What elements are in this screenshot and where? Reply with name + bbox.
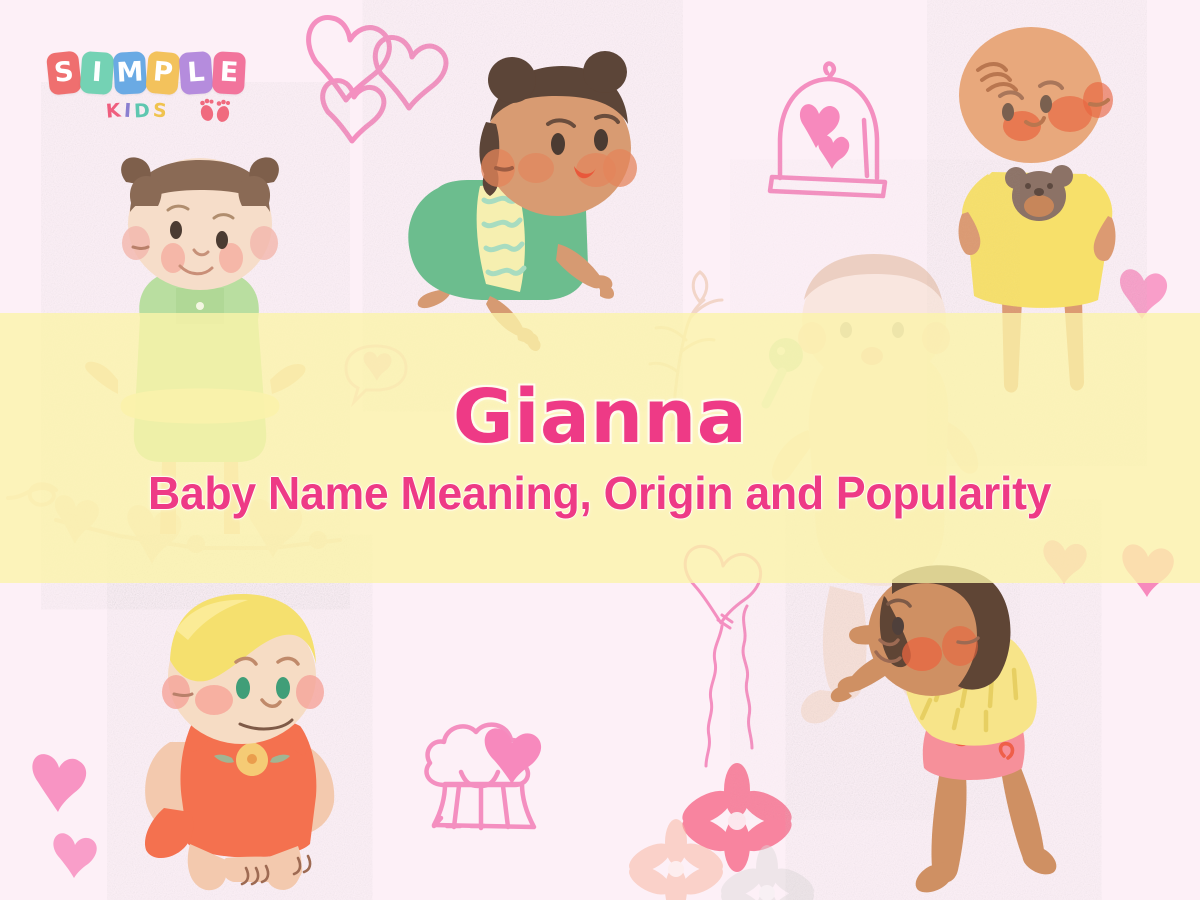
illustration-baby-crawling-green-cardigan <box>408 51 637 351</box>
page-title: Gianna <box>453 380 747 454</box>
logo-kids-word: KIDS <box>106 100 169 122</box>
site-logo[interactable]: S I M P L E KIDS <box>48 52 258 142</box>
decoration-cupcake-icon <box>426 725 541 828</box>
logo-tile-i: I <box>80 51 115 95</box>
logo-tile-l: L <box>179 51 214 95</box>
footprint-icon <box>198 98 232 124</box>
logo-tile-e: E <box>212 51 246 95</box>
decoration-hearts-top-left <box>309 18 446 141</box>
title-banner: Gianna Baby Name Meaning, Origin and Pop… <box>0 313 1200 583</box>
logo-tile-s: S <box>46 50 82 95</box>
decoration-daisy-flowers <box>625 763 819 900</box>
illustration-baby-blonde-orange-dress <box>145 594 334 890</box>
logo-kids-letter-d: D <box>133 100 153 123</box>
poster-canvas: Gianna Baby Name Meaning, Origin and Pop… <box>0 0 1200 900</box>
logo-tile-p: P <box>145 51 181 96</box>
decoration-small-hearts-bottom-left <box>32 754 96 878</box>
page-subtitle: Baby Name Meaning, Origin and Popularity <box>148 470 1051 516</box>
decoration-birdcage-icon <box>770 64 885 196</box>
logo-kids-letter-s: S <box>152 99 171 122</box>
logo-tile-m: M <box>113 51 147 95</box>
logo-kids-letter-k: K <box>105 99 125 122</box>
